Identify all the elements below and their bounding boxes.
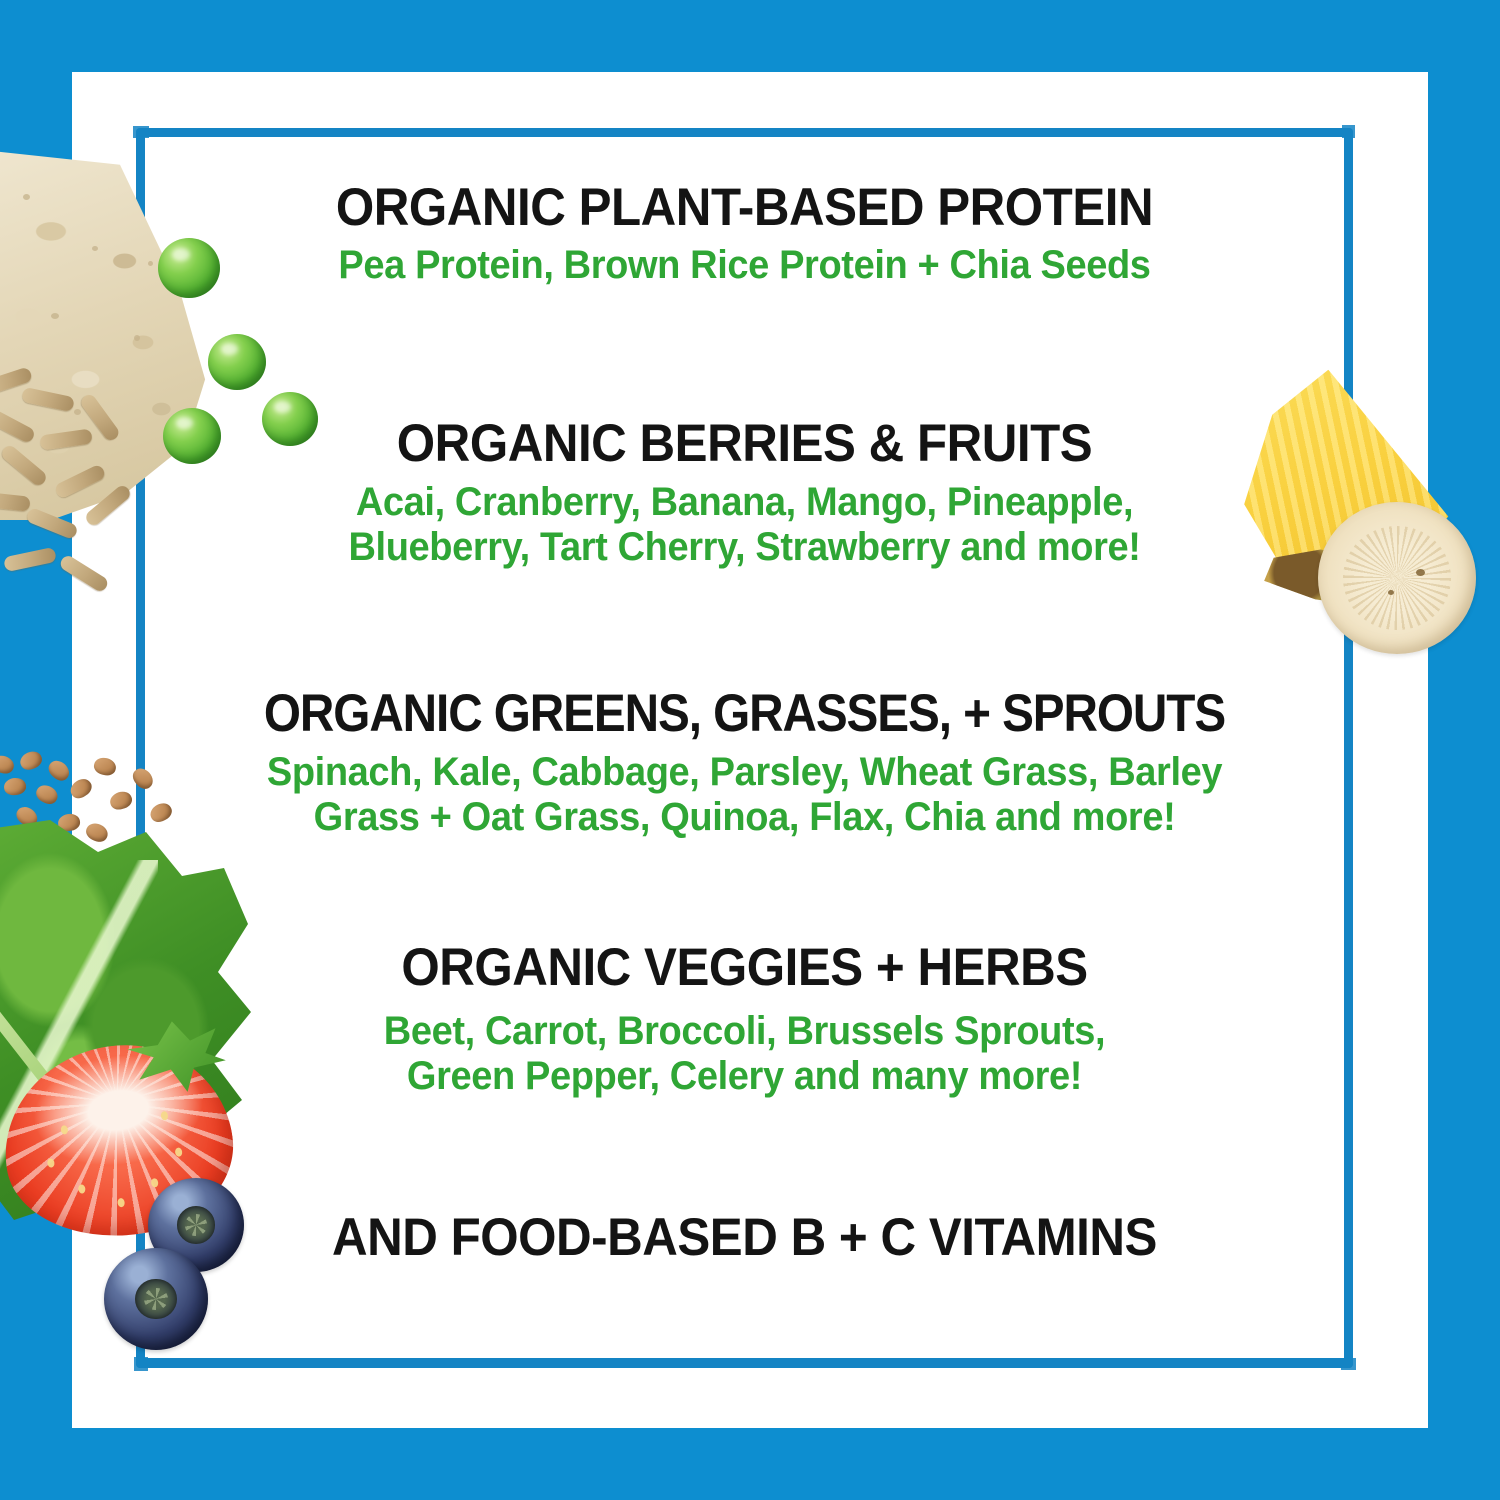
section-ingredients-veggies: Beet, Carrot, Broccoli, Brussels Sprouts… — [166, 1009, 1322, 1099]
section-heading-greens: ORGANIC GREENS, GRASSES, + SPROUTS — [197, 686, 1292, 741]
section-vitamins: AND FOOD-BASED B + C VITAMINS — [136, 1210, 1353, 1265]
ingredient-text-content: ORGANIC PLANT-BASED PROTEIN Pea Protein,… — [136, 128, 1353, 1368]
section-ingredients-greens: Spinach, Kale, Cabbage, Parsley, Wheat G… — [166, 750, 1322, 840]
section-ingredients-protein: Pea Protein, Brown Rice Protein + Chia S… — [166, 243, 1322, 288]
ingredient-line: Acai, Cranberry, Banana, Mango, Pineappl… — [166, 480, 1322, 525]
ingredient-line: Blueberry, Tart Cherry, Strawberry and m… — [166, 525, 1322, 570]
section-veggies: ORGANIC VEGGIES + HERBS Beet, Carrot, Br… — [136, 940, 1353, 1099]
ingredient-line: Spinach, Kale, Cabbage, Parsley, Wheat G… — [166, 750, 1322, 795]
section-heading-berries: ORGANIC BERRIES & FRUITS — [179, 416, 1311, 471]
section-berries: ORGANIC BERRIES & FRUITS Acai, Cranberry… — [136, 416, 1353, 570]
ingredient-line: Grass + Oat Grass, Quinoa, Flax, Chia an… — [166, 795, 1322, 840]
ingredient-line: Green Pepper, Celery and many more! — [166, 1054, 1322, 1099]
section-greens: ORGANIC GREENS, GRASSES, + SPROUTS Spina… — [136, 686, 1353, 840]
section-ingredients-berries: Acai, Cranberry, Banana, Mango, Pineappl… — [166, 480, 1322, 570]
section-protein: ORGANIC PLANT-BASED PROTEIN Pea Protein,… — [136, 180, 1353, 288]
ingredient-line: Pea Protein, Brown Rice Protein + Chia S… — [166, 243, 1322, 288]
ingredient-line: Beet, Carrot, Broccoli, Brussels Sprouts… — [166, 1009, 1322, 1054]
section-heading-vitamins: AND FOOD-BASED B + C VITAMINS — [179, 1210, 1311, 1265]
section-heading-veggies: ORGANIC VEGGIES + HERBS — [179, 940, 1311, 995]
section-heading-protein: ORGANIC PLANT-BASED PROTEIN — [179, 180, 1311, 235]
ingredient-infographic-poster: ORGANIC PLANT-BASED PROTEIN Pea Protein,… — [0, 0, 1500, 1500]
